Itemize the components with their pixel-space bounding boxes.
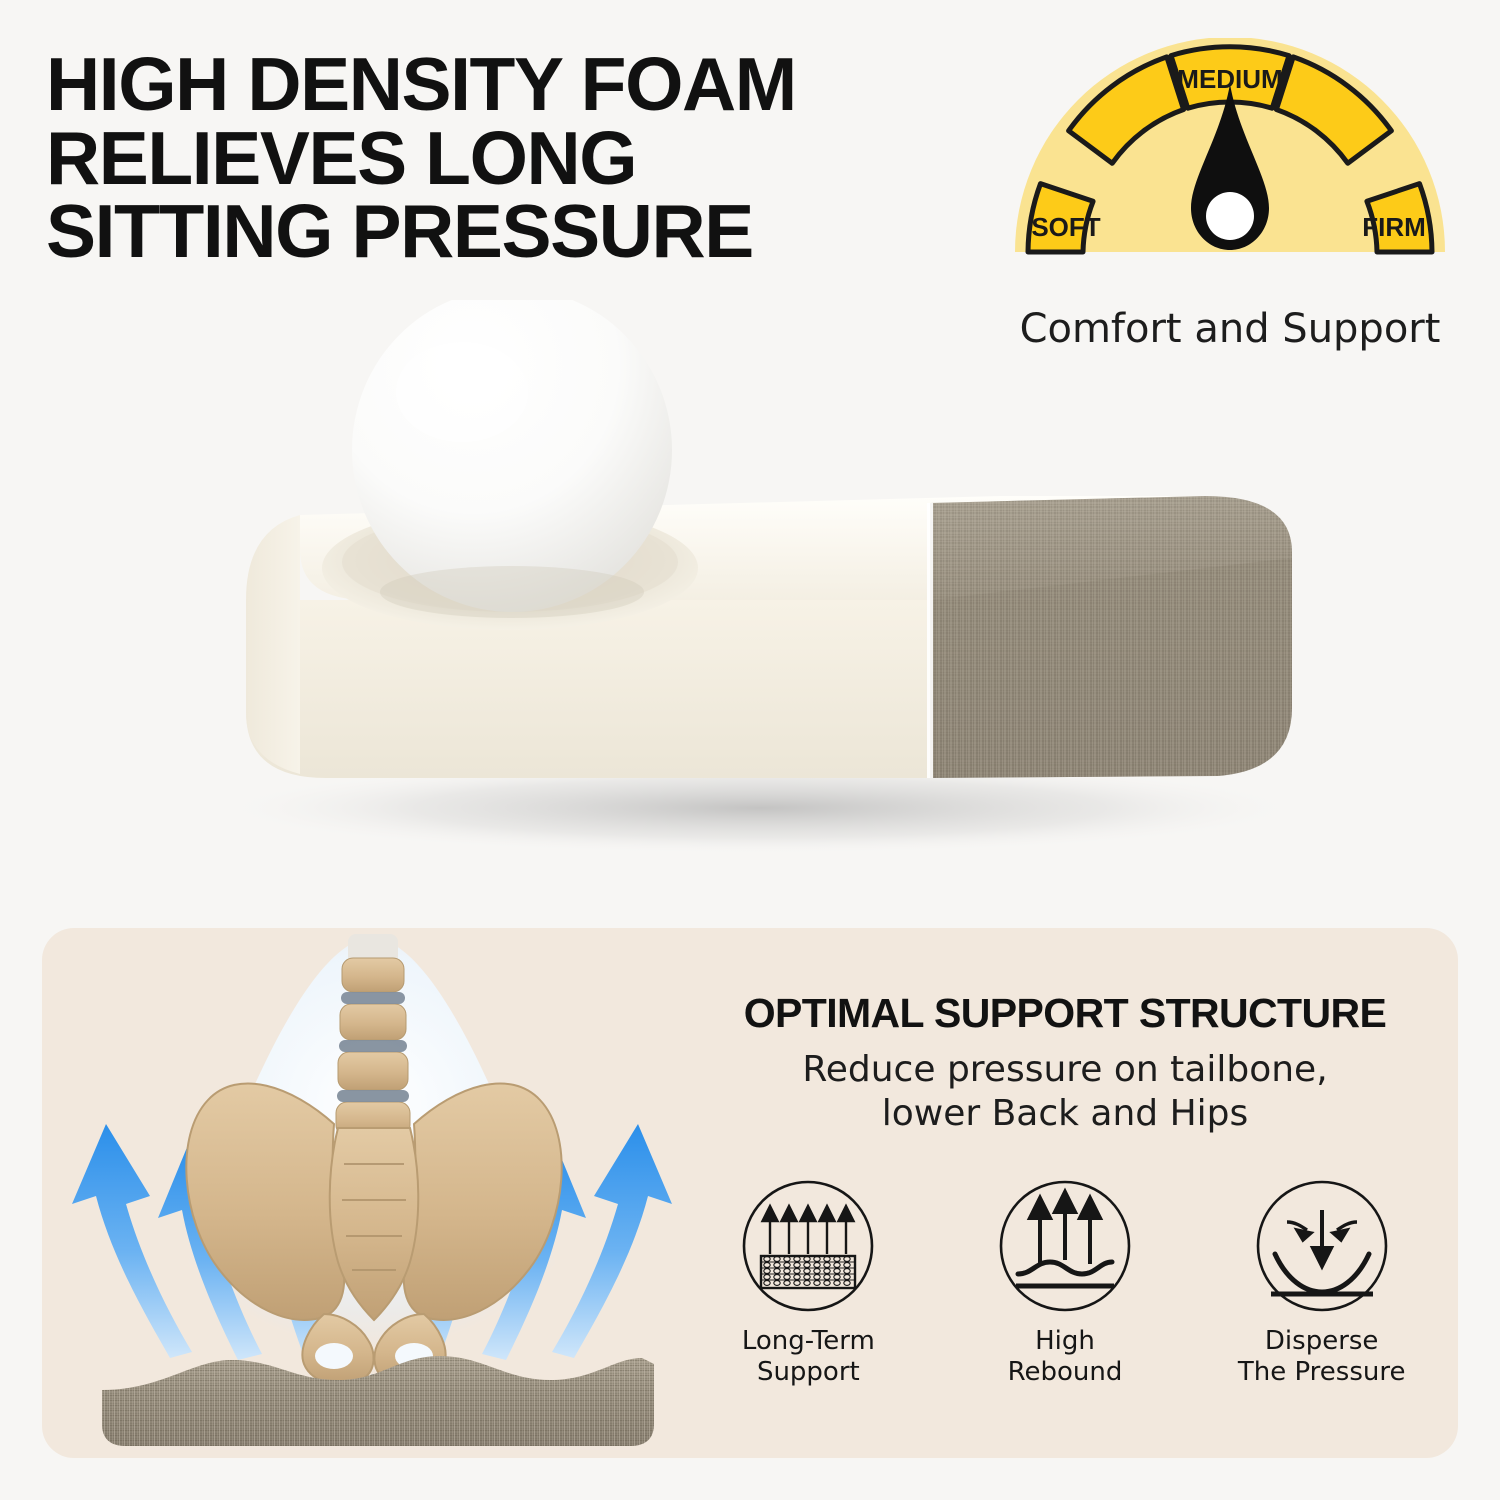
panel-text-column: OPTIMAL SUPPORT STRUCTURE Reduce pressur… [672, 928, 1458, 1458]
feature-label: Long-Term Support [742, 1326, 875, 1387]
optimal-support-title: OPTIMAL SUPPORT STRUCTURE [672, 990, 1458, 1037]
gauge-label-firm: FIRM [1362, 212, 1426, 242]
disperse-arrows-icon [1253, 1176, 1391, 1316]
mesh-arrows-icon [739, 1176, 877, 1316]
feature-label: High Rebound [1008, 1326, 1123, 1387]
optimal-support-subtitle: Reduce pressure on tailbone, lower Back … [672, 1048, 1458, 1136]
gauge-label-soft: SOFT [1031, 212, 1100, 242]
feature-list: Long-Term Support [680, 1176, 1450, 1387]
feature-disperse-pressure: Disperse The Pressure [1193, 1176, 1450, 1387]
headline-line-3: SITTING PRESSURE [46, 195, 976, 269]
gauge-icon: SOFT MEDIUM FIRM [1005, 38, 1455, 270]
support-structure-panel: OPTIMAL SUPPORT STRUCTURE Reduce pressur… [42, 928, 1458, 1458]
feature-high-rebound: High Rebound [937, 1176, 1194, 1387]
spine-illustration [336, 934, 410, 1136]
subtitle-line-2: lower Back and Hips [672, 1092, 1458, 1136]
feature-label: Disperse The Pressure [1238, 1326, 1406, 1387]
pelvis-airflow-illustration [42, 928, 702, 1458]
product-hero-image [0, 300, 1500, 880]
gauge-label-medium: MEDIUM [1177, 64, 1282, 94]
pressure-sphere [352, 300, 672, 612]
foam-cushion-illustration [0, 300, 1500, 880]
headline-line-2: RELIEVES LONG [46, 122, 976, 196]
pelvis-cushion-illustration [42, 928, 702, 1458]
infographic-page: HIGH DENSITY FOAM RELIEVES LONG SITTING … [0, 0, 1500, 1500]
firmness-gauge: SOFT MEDIUM FIRM Comfort and Support [1000, 38, 1460, 338]
cushion-front-foam [246, 600, 930, 778]
subtitle-line-1: Reduce pressure on tailbone, [672, 1048, 1458, 1092]
rebound-arrows-icon [996, 1176, 1134, 1316]
feature-long-term-support: Long-Term Support [680, 1176, 937, 1387]
headline-line-1: HIGH DENSITY FOAM [46, 48, 976, 122]
page-title: HIGH DENSITY FOAM RELIEVES LONG SITTING … [46, 48, 976, 269]
